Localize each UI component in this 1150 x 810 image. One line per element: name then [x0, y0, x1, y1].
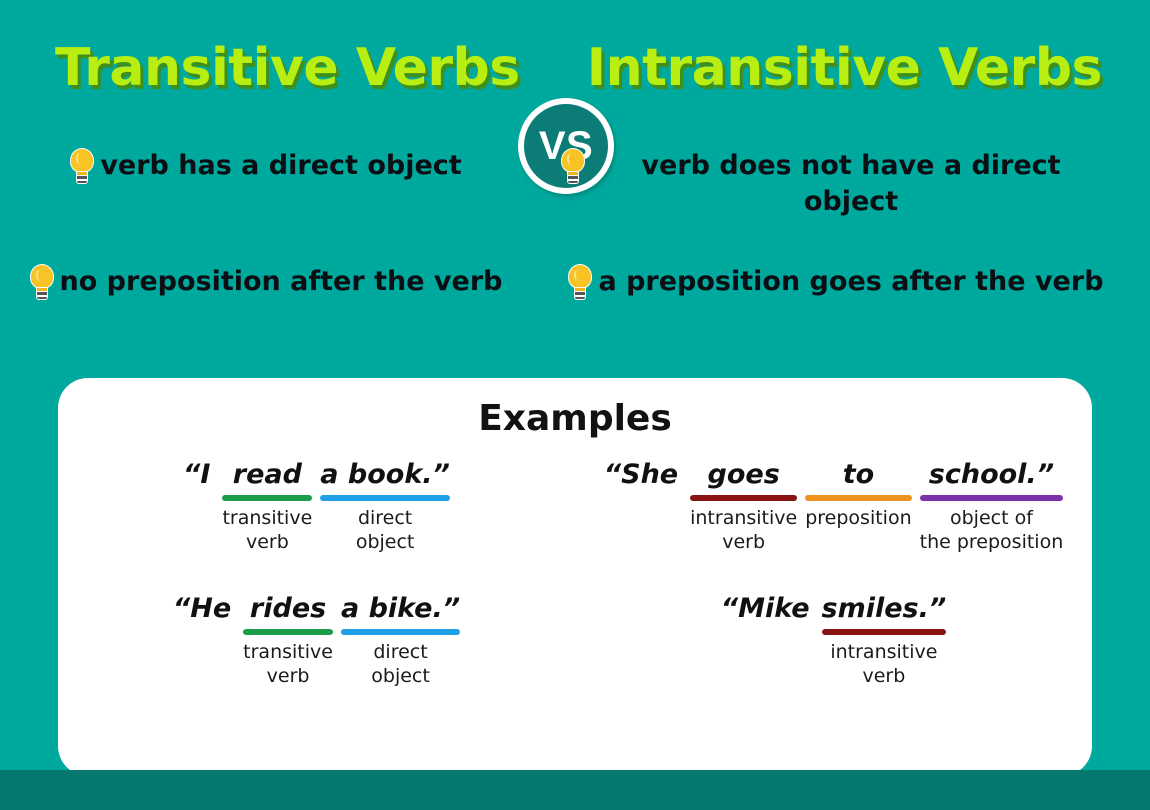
examples-grid: “Ireadtransitive verba book.”direct obje…	[58, 460, 1092, 689]
segment-words: “She	[604, 460, 678, 490]
segment-words: “I	[183, 460, 210, 490]
segment-caption: intransitive verb	[690, 506, 797, 555]
examples-column-transitive: “Ireadtransitive verba book.”direct obje…	[58, 460, 575, 689]
segment-underline	[920, 495, 1064, 501]
segment-words: a book.”	[320, 460, 450, 490]
segment-underline	[183, 495, 210, 501]
segment-words: smiles.”	[822, 594, 947, 624]
sentence-segment: smiles.”intransitive verb	[818, 594, 951, 688]
headings-row: Transitive Verbs Intransitive Verbs	[0, 38, 1150, 108]
examples-title: Examples	[58, 398, 1092, 439]
bullet-row-1: verb has a direct object verb does not h…	[0, 148, 1150, 219]
segment-words: “He	[173, 594, 231, 624]
sentence-segment: a book.”direct object	[316, 460, 454, 554]
examples-card: Examples “Ireadtransitive verba book.”di…	[58, 378, 1092, 776]
sentence-segment: “Mike	[717, 594, 818, 640]
lightbulb-icon	[559, 148, 587, 186]
lightbulb-icon	[566, 264, 594, 302]
segment-caption: preposition	[805, 506, 911, 530]
sentence-segment: readtransitive verb	[218, 460, 316, 554]
sentence-segment: “She	[600, 460, 686, 506]
heading-transitive: Transitive Verbs	[55, 38, 520, 98]
segment-underline	[805, 495, 911, 501]
segment-underline	[341, 629, 460, 635]
segment-underline	[822, 629, 947, 635]
bullet-text: verb does not have a direct object	[591, 148, 1111, 219]
segment-words: school.”	[929, 460, 1054, 490]
example-sentence: “Mikesmiles.”intransitive verb	[575, 594, 1092, 688]
segment-caption: transitive verb	[243, 640, 333, 689]
segment-caption: transitive verb	[222, 506, 312, 555]
segment-words: goes	[708, 460, 780, 490]
segment-caption: intransitive verb	[830, 640, 937, 689]
lightbulb-icon	[28, 264, 56, 302]
segment-underline	[173, 629, 231, 635]
sentence-segment: “He	[169, 594, 239, 640]
bullet-row-2: no preposition after the verb a preposit…	[0, 264, 1150, 302]
segment-caption: object of the preposition	[920, 506, 1064, 555]
bullet-intransitive-1: verb does not have a direct object	[520, 148, 1150, 219]
example-sentence: “Ireadtransitive verba book.”direct obje…	[58, 460, 575, 554]
segment-caption: direct object	[371, 640, 430, 689]
bullet-text: verb has a direct object	[100, 148, 461, 184]
segment-underline	[320, 495, 450, 501]
example-sentence: “Shegoesintransitive verbtoprepositionsc…	[575, 460, 1092, 554]
bullet-text: a preposition goes after the verb	[598, 264, 1103, 300]
segment-words: to	[843, 460, 874, 490]
segment-underline	[222, 495, 312, 501]
sentence-segment: goesintransitive verb	[686, 460, 801, 554]
segment-words: a bike.”	[341, 594, 460, 624]
segment-words: “Mike	[721, 594, 810, 624]
segment-caption: direct object	[356, 506, 415, 555]
segment-underline	[721, 629, 810, 635]
segment-underline	[604, 495, 678, 501]
bullet-transitive-1: verb has a direct object	[0, 148, 520, 219]
bullet-text: no preposition after the verb	[60, 264, 503, 300]
segment-underline	[243, 629, 333, 635]
bullet-intransitive-2: a preposition goes after the verb	[520, 264, 1150, 302]
segment-underline	[690, 495, 797, 501]
sentence-segment: topreposition	[801, 460, 915, 530]
segment-words: rides	[250, 594, 326, 624]
examples-column-intransitive: “Shegoesintransitive verbtoprepositionsc…	[575, 460, 1092, 689]
heading-intransitive: Intransitive Verbs	[587, 38, 1102, 98]
bottom-band	[0, 770, 1150, 810]
segment-words: read	[233, 460, 302, 490]
example-sentence: “Heridestransitive verba bike.”direct ob…	[58, 594, 575, 688]
sentence-segment: “I	[179, 460, 218, 506]
sentence-segment: ridestransitive verb	[239, 594, 337, 688]
sentence-segment: school.”object of the preposition	[916, 460, 1068, 554]
lightbulb-icon	[68, 148, 96, 186]
sentence-segment: a bike.”direct object	[337, 594, 464, 688]
bullet-transitive-2: no preposition after the verb	[0, 264, 520, 302]
